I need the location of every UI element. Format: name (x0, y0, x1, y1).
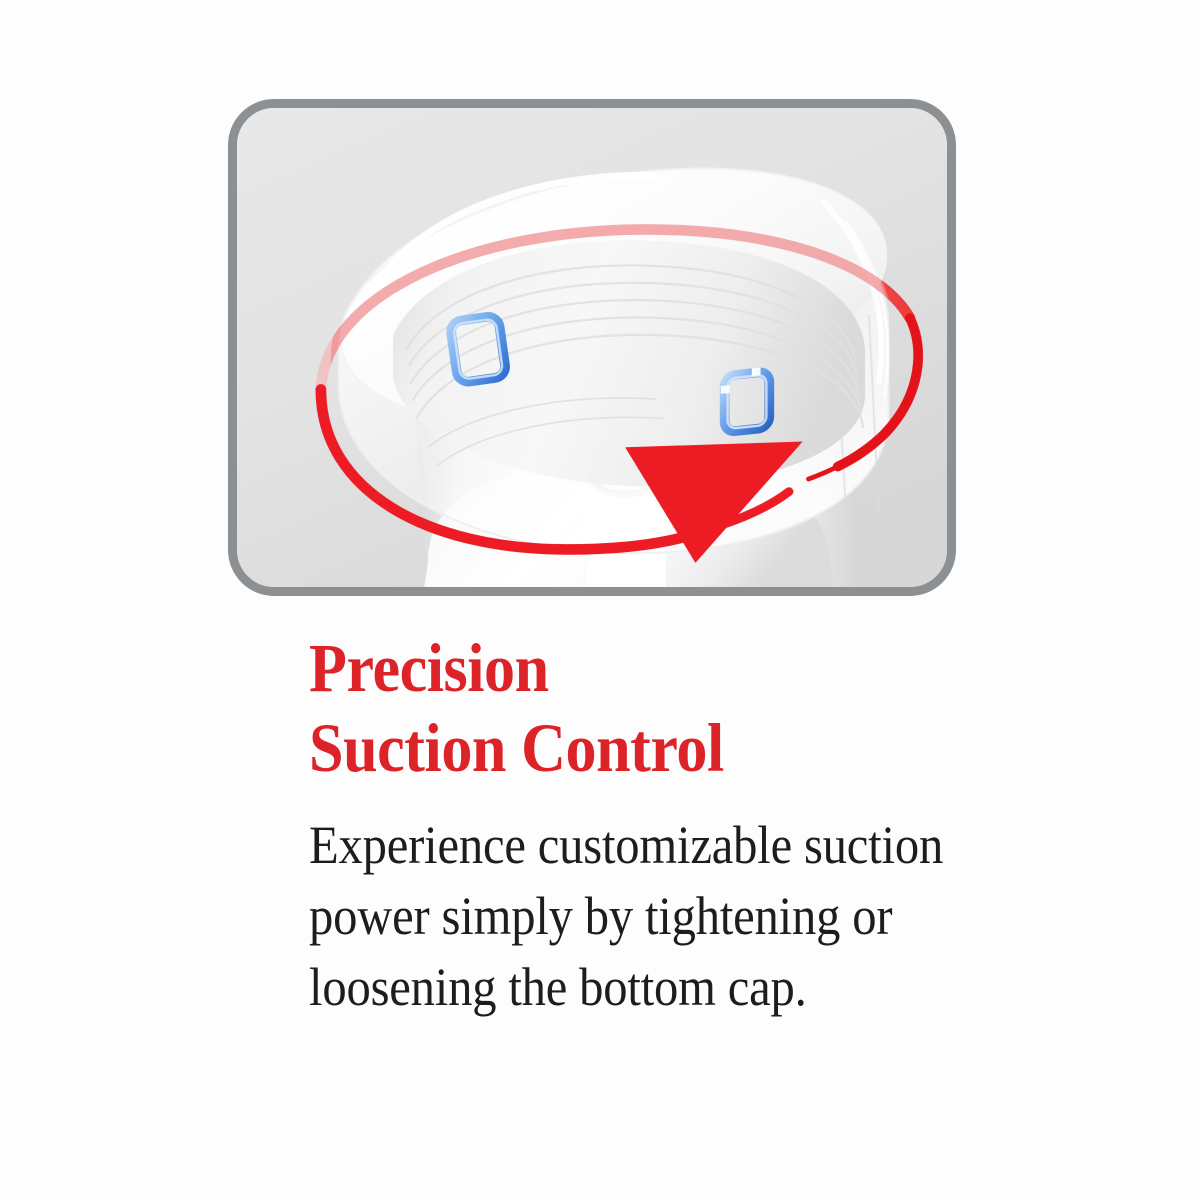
page-title: Precision Suction Control (309, 628, 903, 788)
suction-cap-rotation-illustration (237, 108, 947, 587)
feature-text-block: Precision Suction Control Experience cus… (309, 628, 969, 1023)
illustration-panel (228, 99, 956, 596)
feature-description: Experience customizable suction power si… (309, 788, 966, 1023)
feature-card: Precision Suction Control Experience cus… (0, 0, 1200, 1200)
